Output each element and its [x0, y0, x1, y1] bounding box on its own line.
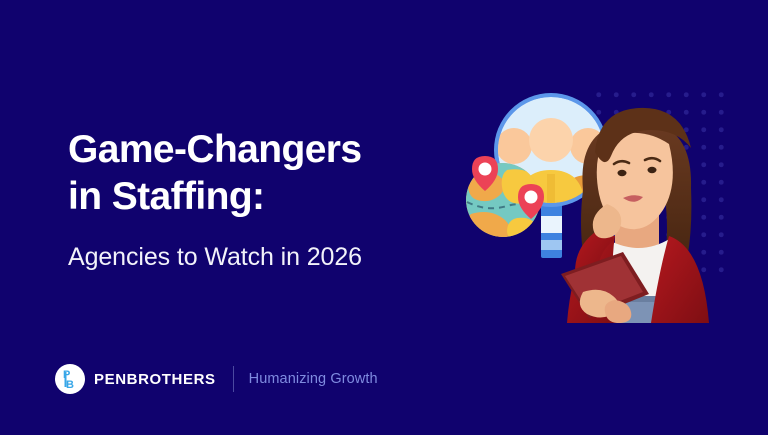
page-subtitle: Agencies to Watch in 2026 — [68, 241, 468, 273]
brand-name: PENBROTHERS — [94, 371, 216, 388]
svg-text:B: B — [66, 379, 74, 390]
headline-line-1: Game-Changers — [68, 126, 468, 173]
page-title: Game-Changers in Staffing: — [68, 126, 468, 220]
brand-tagline: Humanizing Growth — [249, 371, 378, 387]
headline-line-2: in Staffing: — [68, 173, 468, 220]
recruitment-search-illustration — [455, 78, 768, 323]
penbrothers-logo-icon: P B — [55, 364, 85, 394]
brand-lockup: P B PENBROTHERS Humanizing Growth — [55, 364, 378, 394]
promo-banner: Game-Changers in Staffing: Agencies to W… — [0, 0, 768, 435]
lockup-divider — [233, 366, 234, 392]
headline-block: Game-Changers in Staffing: Agencies to W… — [68, 126, 468, 273]
